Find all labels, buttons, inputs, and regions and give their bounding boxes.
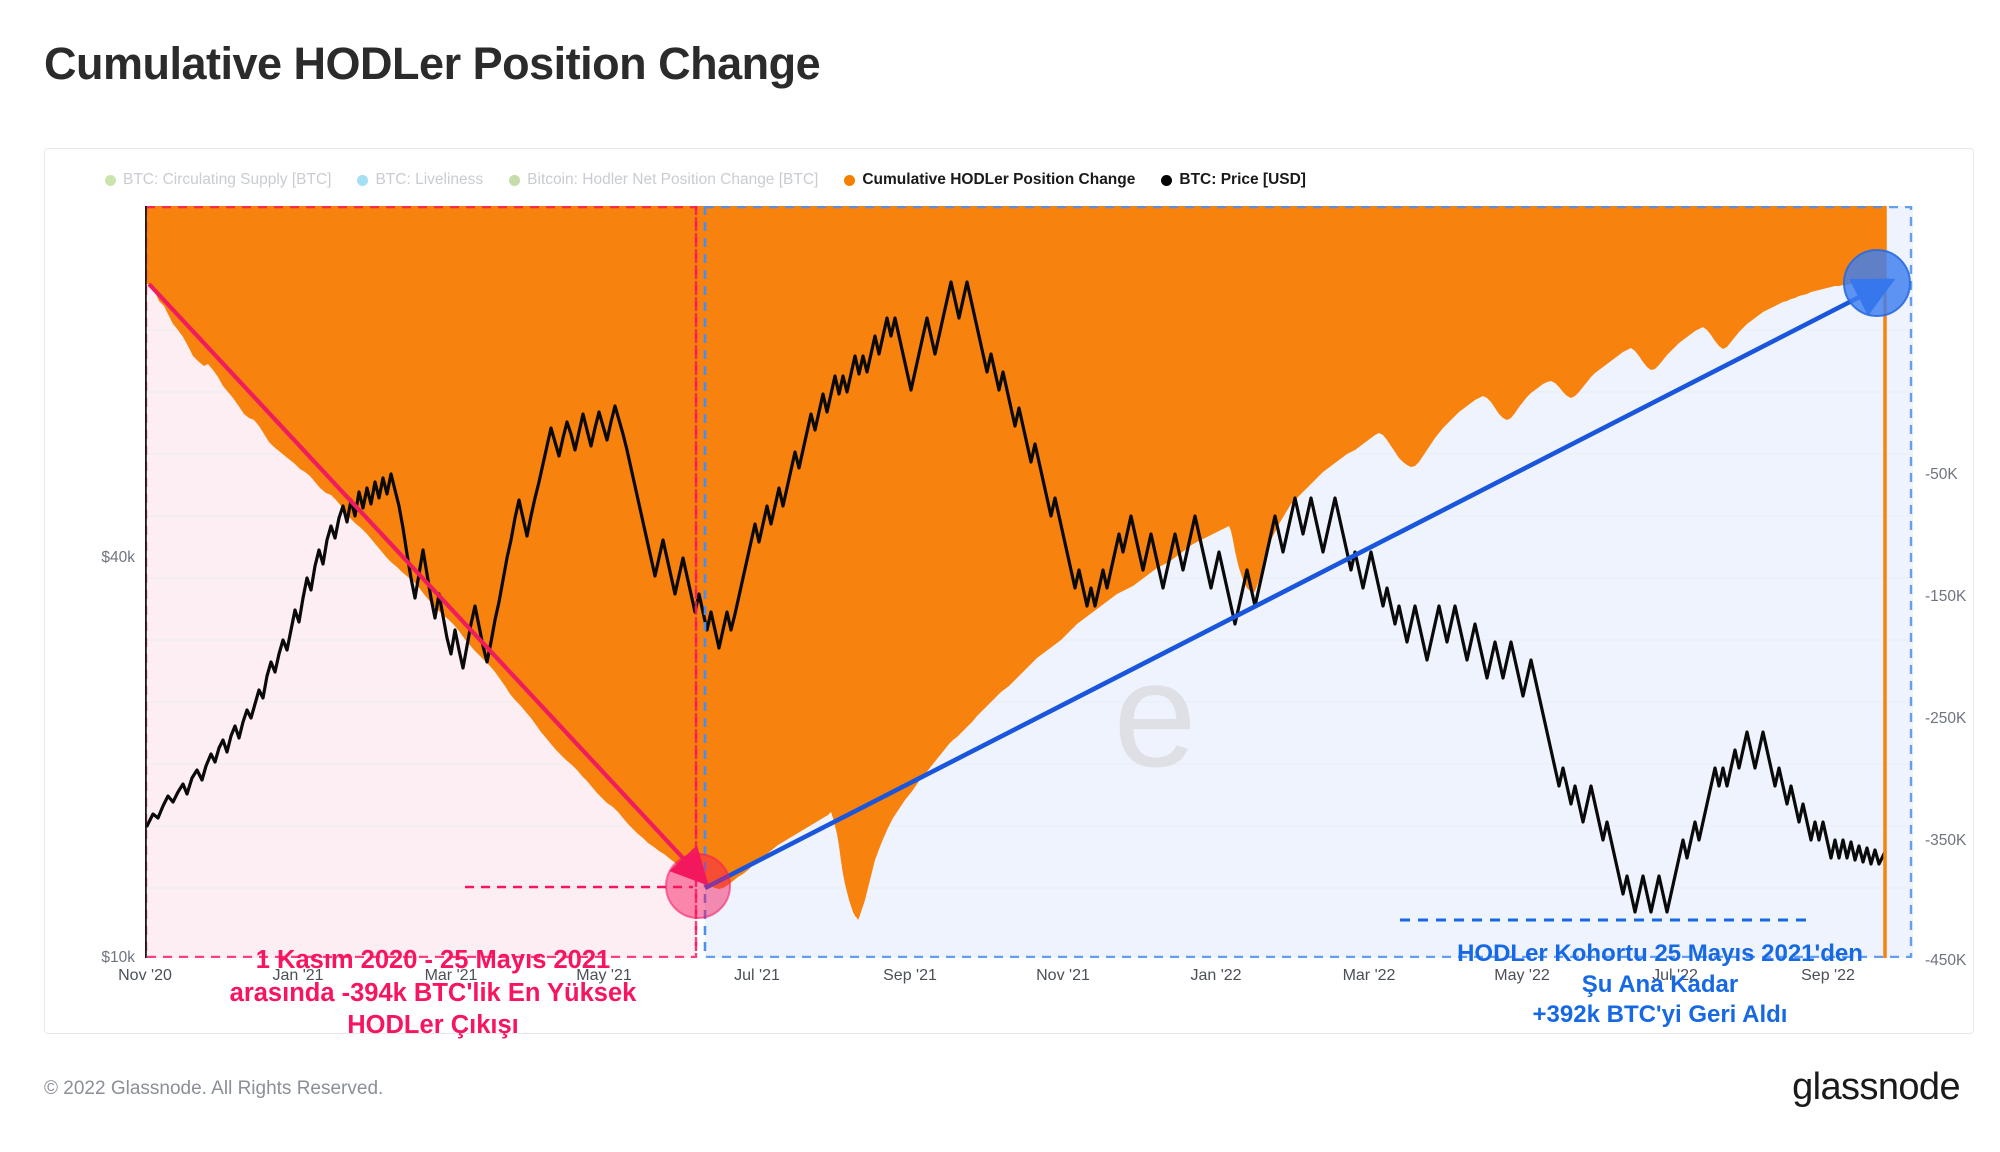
x-axis-tick-sep22: Sep '22 xyxy=(1801,967,1855,985)
footer-copyright: © 2022 Glassnode. All Rights Reserved. xyxy=(44,1078,383,1100)
y-axis-right-tick-50k: -50K xyxy=(1925,466,1958,484)
x-axis-tick-jul21: Jul '21 xyxy=(734,967,780,985)
x-axis-tick-may22: May '22 xyxy=(1494,967,1550,985)
page-title: Cumulative HODLer Position Change xyxy=(44,38,820,90)
x-axis-tick-jan21: Jan '21 xyxy=(272,967,323,985)
x-axis-tick-sep21: Sep '21 xyxy=(883,967,937,985)
x-axis-tick-may21: May '21 xyxy=(576,967,632,985)
annotation-drawdown: 1 Kasım 2020 - 25 Mayıs 2021 arasında -3… xyxy=(133,944,733,1042)
glassnode-logo: glassnode xyxy=(1792,1066,1960,1109)
legend-item-hodler-net-position-change[interactable]: Bitcoin: Hodler Net Position Change [BTC… xyxy=(509,171,818,189)
y-axis-right-tick-350k: -350K xyxy=(1925,832,1966,850)
legend-item-label: Cumulative HODLer Position Change xyxy=(862,171,1135,189)
legend-item-liveliness[interactable]: BTC: Liveliness xyxy=(357,171,483,189)
y-axis-right-tick-150k: -150K xyxy=(1925,588,1966,606)
x-axis-tick-jan22: Jan '22 xyxy=(1190,967,1241,985)
legend-dot-icon xyxy=(105,175,116,186)
legend-dot-icon xyxy=(509,175,520,186)
y-axis-left-tick-40k: $40k xyxy=(69,549,135,567)
x-axis-tick-jul22: Jul '22 xyxy=(1652,967,1698,985)
legend-item-circulating-supply[interactable]: BTC: Circulating Supply [BTC] xyxy=(105,171,331,189)
y-axis-right-tick-250k: -250K xyxy=(1925,710,1966,728)
legend-item-label: BTC: Liveliness xyxy=(375,171,483,189)
chart-card: BTC: Circulating Supply [BTC] BTC: Livel… xyxy=(44,148,1974,1034)
chart-legend: BTC: Circulating Supply [BTC] BTC: Livel… xyxy=(105,167,1306,193)
legend-item-label: BTC: Price [USD] xyxy=(1179,171,1306,189)
legend-dot-icon xyxy=(844,175,855,186)
recovery-marker[interactable] xyxy=(1844,250,1910,316)
legend-item-label: Bitcoin: Hodler Net Position Change [BTC… xyxy=(527,171,818,189)
x-axis-tick-nov21: Nov '21 xyxy=(1036,967,1090,985)
y-axis-right-tick-450k: -450K xyxy=(1925,952,1966,970)
trough-marker[interactable] xyxy=(666,854,730,918)
x-axis-tick-nov20: Nov '20 xyxy=(118,967,172,985)
legend-item-btc-price[interactable]: BTC: Price [USD] xyxy=(1161,171,1306,189)
x-axis-tick-mar21: Mar '21 xyxy=(425,967,478,985)
legend-item-label: BTC: Circulating Supply [BTC] xyxy=(123,171,331,189)
plot-area: e xyxy=(145,206,1913,958)
x-axis-tick-mar22: Mar '22 xyxy=(1343,967,1396,985)
chart-page: Cumulative HODLer Position Change BTC: C… xyxy=(0,0,2000,1152)
legend-dot-icon xyxy=(1161,175,1172,186)
blue-annotation-underline xyxy=(1400,916,1820,926)
legend-item-cumulative-hodler-position-change[interactable]: Cumulative HODLer Position Change xyxy=(844,171,1135,189)
y-axis-left-tick-10k: $10k xyxy=(69,949,135,967)
legend-dot-icon xyxy=(357,175,368,186)
plot-svg: e xyxy=(145,206,1913,958)
